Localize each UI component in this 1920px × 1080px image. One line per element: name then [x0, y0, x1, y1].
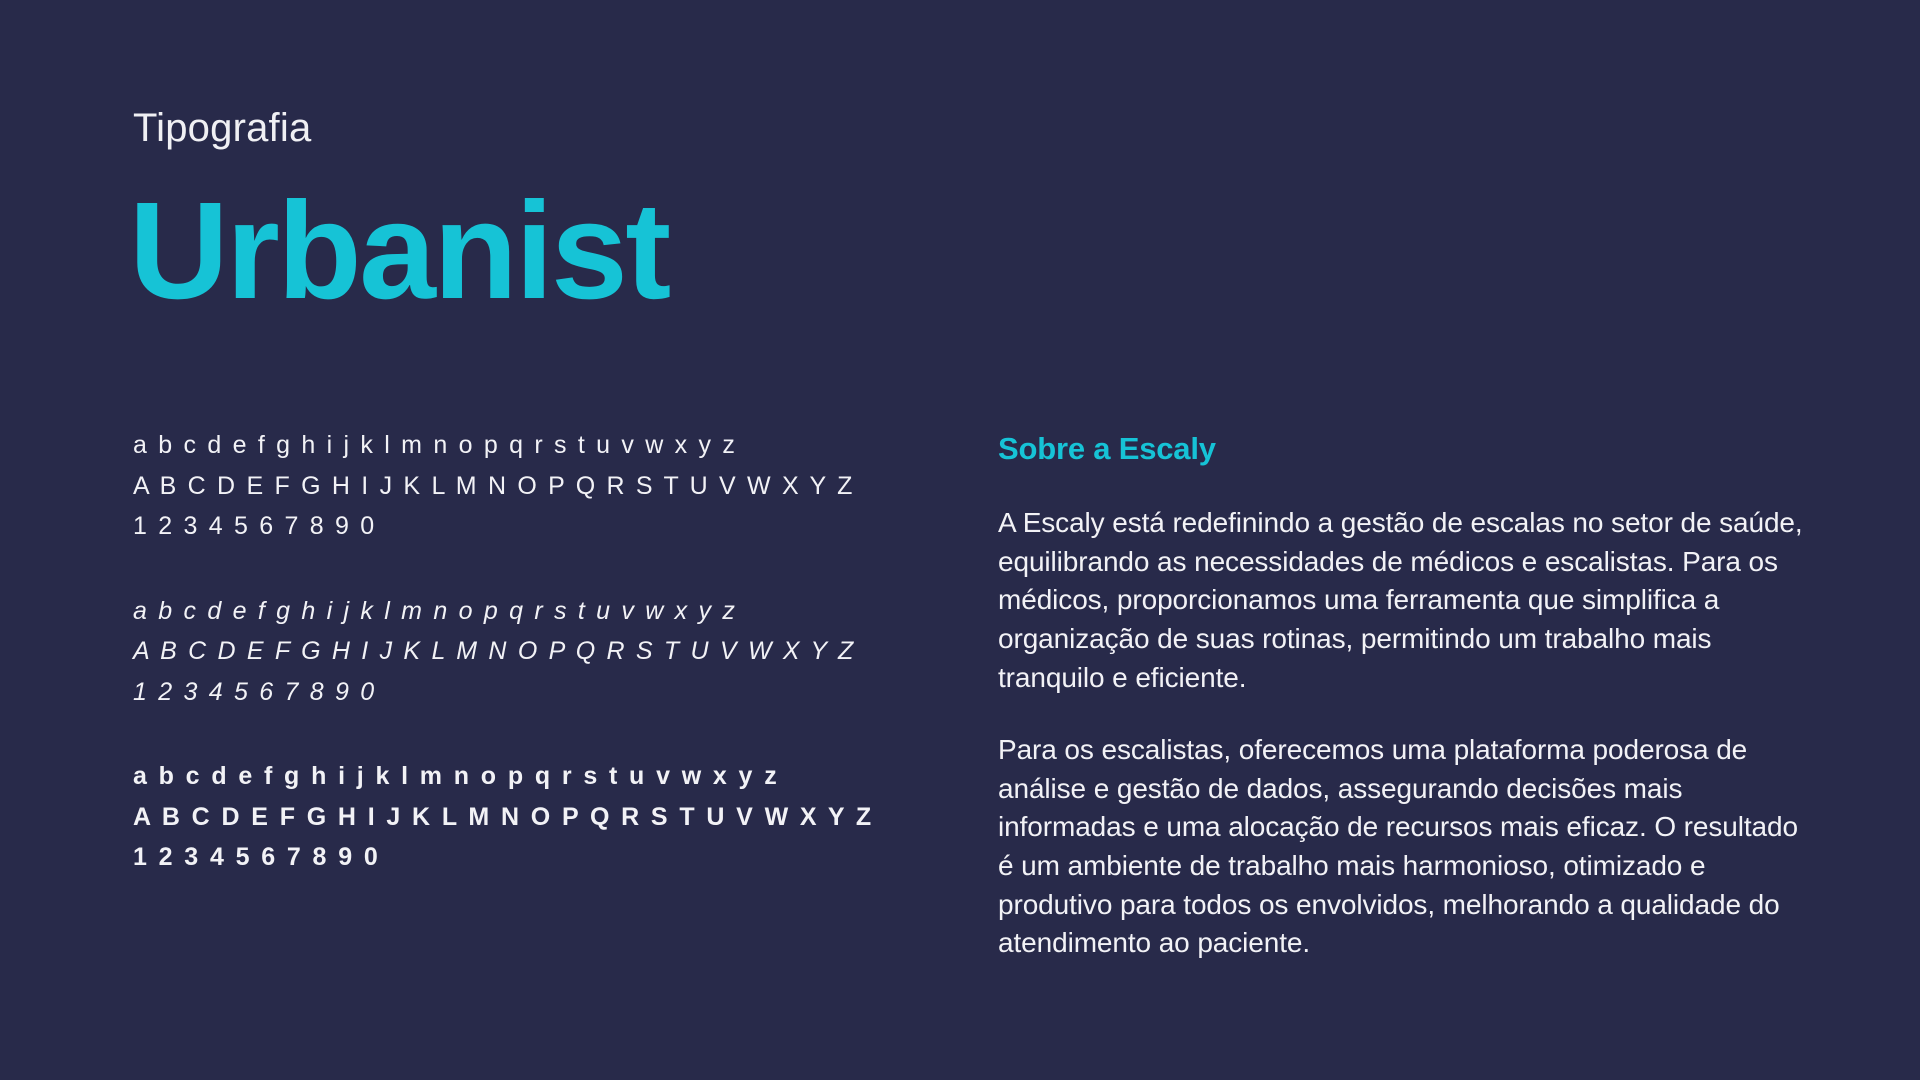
- about-paragraph-2: Para os escalistas, oferecemos uma plata…: [998, 731, 1808, 963]
- about-section-heading: Sobre a Escaly: [998, 432, 1808, 466]
- specimen-lowercase-light: a b c d e f g h i j k l m n o p q r s t …: [133, 425, 953, 466]
- about-column: Sobre a Escaly A Escaly está redefinindo…: [998, 432, 1808, 963]
- specimen-numerals-bold: 1 2 3 4 5 6 7 8 9 0: [133, 837, 953, 878]
- specimen-numerals-light: 1 2 3 4 5 6 7 8 9 0: [133, 506, 953, 547]
- specimen-lowercase-bold: a b c d e f g h i j k l m n o p q r s t …: [133, 756, 953, 797]
- specimen-uppercase-light: A B C D E F G H I J K L M N O P Q R S T …: [133, 466, 953, 507]
- specimen-numerals-italic: 1 2 3 4 5 6 7 8 9 0: [133, 672, 953, 713]
- specimen-uppercase-bold: A B C D E F G H I J K L M N O P Q R S T …: [133, 797, 953, 838]
- about-paragraph-1: A Escaly está redefinindo a gestão de es…: [998, 504, 1808, 697]
- specimen-uppercase-italic: A B C D E F G H I J K L M N O P Q R S T …: [133, 631, 953, 672]
- font-specimen-italic: a b c d e f g h i j k l m n o p q r s t …: [133, 591, 953, 713]
- font-specimen-light: a b c d e f g h i j k l m n o p q r s t …: [133, 425, 953, 547]
- typography-slide: Tipografia Urbanist a b c d e f g h i j …: [0, 0, 1920, 1080]
- specimen-lowercase-italic: a b c d e f g h i j k l m n o p q r s t …: [133, 591, 953, 632]
- font-specimen-list: a b c d e f g h i j k l m n o p q r s t …: [133, 425, 953, 878]
- typography-showcase-column: Tipografia Urbanist a b c d e f g h i j …: [133, 0, 953, 1080]
- section-eyebrow-label: Tipografia: [133, 108, 311, 148]
- page-title: Urbanist: [129, 182, 669, 320]
- font-specimen-bold: a b c d e f g h i j k l m n o p q r s t …: [133, 756, 953, 878]
